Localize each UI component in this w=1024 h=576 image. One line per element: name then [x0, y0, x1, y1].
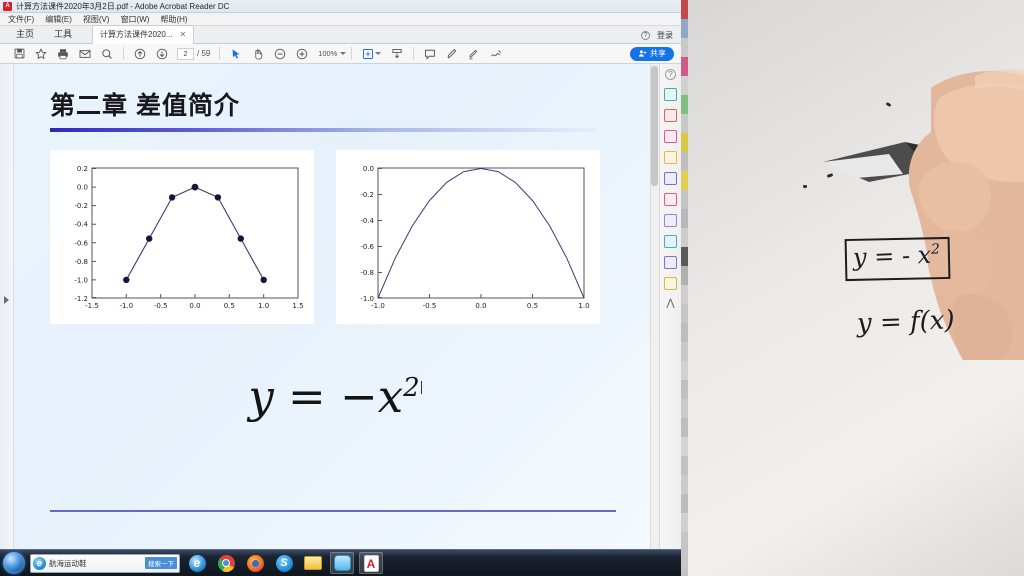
export-pdf-icon[interactable] — [664, 88, 677, 101]
hand-tool-icon[interactable] — [247, 45, 269, 63]
svg-text:-1.0: -1.0 — [371, 302, 385, 310]
svg-text:-0.2: -0.2 — [74, 202, 88, 210]
tab-strip-right: ? 登录 — [641, 30, 681, 43]
svg-text:0.5: 0.5 — [527, 302, 538, 310]
handwriting-equation-1-base: y = - x — [853, 241, 932, 272]
comment-icon[interactable] — [664, 151, 677, 164]
page-fit-chevron-down-icon[interactable] — [375, 52, 381, 55]
svg-text:0.0: 0.0 — [77, 184, 88, 192]
svg-text:-0.8: -0.8 — [74, 258, 88, 266]
page-total-label: / 59 — [197, 49, 210, 58]
screen: A 计算方法课件2020年3月2日.pdf - Adobe Acrobat Re… — [0, 0, 1024, 576]
chart-left-sampled-points: 0.2 0.0 -0.2 -0.4 -0.6 -0.8 -1.0 -1.2 — [56, 158, 308, 320]
taskbar-acrobat[interactable]: A — [359, 552, 383, 574]
svg-text:-1.5: -1.5 — [85, 302, 99, 310]
menu-view[interactable]: 视图(V) — [83, 14, 110, 25]
svg-text:-1.0: -1.0 — [119, 302, 133, 310]
share-button[interactable]: 共享 — [630, 47, 674, 61]
comment-icon[interactable] — [419, 45, 441, 63]
acrobat-reader-window: A 计算方法课件2020年3月2日.pdf - Adobe Acrobat Re… — [0, 0, 681, 576]
document-scrollbar[interactable] — [650, 64, 659, 558]
document-view[interactable]: 第二章 差值简介 0.2 0.0 — [14, 64, 659, 558]
svg-text:0.0: 0.0 — [189, 302, 200, 310]
svg-text:0.0: 0.0 — [363, 165, 374, 173]
taskbar-explorer[interactable] — [301, 552, 325, 574]
svg-text:-0.4: -0.4 — [360, 217, 374, 225]
chart-right-card: 0.0 -0.2 -0.4 -0.6 -0.8 -1.0 — [336, 150, 600, 324]
menu-window[interactable]: 窗口(W) — [121, 14, 150, 25]
text-cursor-icon — [421, 381, 422, 394]
combine-files-icon[interactable] — [664, 172, 677, 185]
window-title: 计算方法课件2020年3月2日.pdf - Adobe Acrobat Read… — [16, 1, 229, 12]
sign-icon[interactable] — [485, 45, 507, 63]
app-body: 第二章 差值简介 0.2 0.0 — [0, 64, 681, 558]
toolbar-divider-2 — [219, 47, 220, 60]
zoom-control[interactable]: 100% — [317, 49, 346, 58]
more-tools-icon[interactable]: ⋀ — [664, 298, 677, 311]
svg-text:-0.6: -0.6 — [74, 239, 88, 247]
previous-page-icon[interactable] — [129, 45, 151, 63]
svg-text:0.5: 0.5 — [224, 302, 235, 310]
video-overlay-pane[interactable]: y = - x2 y = f(x) — [681, 0, 1024, 576]
svg-text:1.0: 1.0 — [258, 302, 269, 310]
email-icon[interactable] — [74, 45, 96, 63]
toolbar-divider — [123, 47, 124, 60]
folder-icon — [304, 556, 322, 570]
search-icon[interactable] — [96, 45, 118, 63]
scrollbar-thumb[interactable] — [651, 66, 658, 186]
title-underline — [50, 128, 598, 132]
chart-left-card: 0.2 0.0 -0.2 -0.4 -0.6 -0.8 -1.0 -1.2 — [50, 150, 314, 324]
chrome-icon — [218, 555, 235, 572]
tab-strip: 主页 工具 计算方法课件2020... ✕ ? 登录 — [0, 26, 681, 44]
handwriting-equation-1: y = - x2 — [853, 240, 941, 271]
toolbar: 2 / 59 100% — [0, 44, 681, 64]
svg-text:-0.2: -0.2 — [360, 191, 374, 199]
search-input[interactable]: e 航海运动鞋 搜索一下 — [30, 554, 180, 573]
protect-icon[interactable] — [664, 214, 677, 227]
help-icon[interactable]: ? — [665, 69, 676, 80]
svg-text:0.2: 0.2 — [77, 165, 88, 173]
handwriting-equation-2: y = f(x) — [857, 305, 956, 338]
zoom-in-icon[interactable] — [291, 45, 313, 63]
formula-base: y = −x — [248, 370, 403, 423]
taskbar-internet-explorer[interactable]: e — [185, 552, 209, 574]
tab-tools[interactable]: 工具 — [44, 24, 82, 43]
menu-edit[interactable]: 编辑(E) — [45, 14, 72, 25]
handwriting-equation-1-exponent: 2 — [931, 241, 940, 257]
fill-sign-icon[interactable] — [664, 193, 677, 206]
firefox-icon — [247, 555, 264, 572]
slide-bottom-rule — [50, 510, 616, 512]
taskbar-qq[interactable] — [330, 552, 354, 574]
svg-text:-0.5: -0.5 — [154, 302, 168, 310]
tools-panel: ? ⋀ — [659, 64, 681, 558]
slide-page: 第二章 差值简介 0.2 0.0 — [14, 64, 650, 558]
scroll-mode-icon[interactable] — [386, 45, 408, 63]
slide-formula: y = −x2 — [50, 370, 620, 423]
zoom-level-label: 100% — [317, 49, 337, 58]
toolbar-divider-4 — [413, 47, 414, 60]
svg-text:-1.0: -1.0 — [74, 276, 88, 284]
expand-navigation-chevron-right-icon[interactable] — [4, 296, 9, 304]
svg-text:-0.6: -0.6 — [360, 243, 374, 251]
next-page-icon[interactable] — [151, 45, 173, 63]
svg-text:1.0: 1.0 — [578, 302, 589, 310]
edit-pdf-icon[interactable] — [664, 130, 677, 143]
sogou-icon: S — [276, 555, 293, 572]
acrobat-icon: A — [364, 555, 379, 572]
svg-text:0.0: 0.0 — [475, 302, 486, 310]
chart-right-dense-curve: 0.0 -0.2 -0.4 -0.6 -0.8 -1.0 — [342, 158, 594, 320]
menu-help[interactable]: 帮助(H) — [160, 14, 187, 25]
tab-home[interactable]: 主页 — [6, 24, 44, 43]
share-label: 共享 — [650, 48, 666, 59]
color-strip — [681, 0, 688, 576]
svg-text:1.5: 1.5 — [292, 302, 303, 310]
save-icon[interactable] — [8, 45, 30, 63]
acrobat-icon: A — [3, 2, 12, 11]
compress-icon[interactable] — [664, 277, 677, 290]
tab-document[interactable]: 计算方法课件2020... ✕ — [92, 25, 194, 44]
svg-text:-0.5: -0.5 — [423, 302, 437, 310]
print-icon[interactable] — [52, 45, 74, 63]
internet-explorer-icon: e — [189, 555, 206, 572]
start-orb-icon[interactable] — [3, 552, 25, 574]
help-icon[interactable]: ? — [641, 31, 650, 40]
internet-explorer-icon: e — [33, 557, 46, 570]
title-bar: A 计算方法课件2020年3月2日.pdf - Adobe Acrobat Re… — [0, 0, 681, 13]
page-indicator: 2 / 59 — [177, 48, 210, 60]
svg-text:-0.4: -0.4 — [74, 221, 88, 229]
svg-text:-0.8: -0.8 — [360, 269, 374, 277]
menu-file[interactable]: 文件(F) — [8, 14, 34, 25]
highlight-icon[interactable] — [441, 45, 463, 63]
create-pdf-icon[interactable] — [664, 109, 677, 122]
close-icon[interactable]: ✕ — [180, 30, 187, 39]
login-button[interactable]: 登录 — [657, 30, 673, 41]
search-button[interactable]: 搜索一下 — [145, 557, 177, 569]
zoom-out-icon[interactable] — [269, 45, 291, 63]
charts-row: 0.2 0.0 -0.2 -0.4 -0.6 -0.8 -1.0 -1.2 — [50, 150, 620, 324]
search-input-value: 航海运动鞋 — [49, 558, 142, 569]
chevron-down-icon[interactable] — [340, 52, 346, 55]
draw-icon[interactable] — [463, 45, 485, 63]
tab-document-label: 计算方法课件2020... — [100, 29, 172, 40]
windows-taskbar: e 航海运动鞋 搜索一下 e S A — [0, 549, 681, 576]
formula-exponent: 2 — [403, 373, 420, 403]
qq-icon — [334, 555, 351, 571]
redact-icon[interactable] — [664, 256, 677, 269]
taskbar-firefox[interactable] — [243, 552, 267, 574]
taskbar-chrome[interactable] — [214, 552, 238, 574]
navigation-pane-rail[interactable] — [0, 64, 14, 558]
select-tool-icon[interactable] — [225, 45, 247, 63]
ink-speck — [803, 185, 807, 188]
page-title: 第二章 差值简介 — [50, 86, 620, 122]
organize-pages-icon[interactable] — [664, 235, 677, 248]
taskbar-sogou[interactable]: S — [272, 552, 296, 574]
star-icon[interactable] — [30, 45, 52, 63]
page-number-input[interactable]: 2 — [177, 48, 194, 60]
toolbar-divider-3 — [351, 47, 352, 60]
